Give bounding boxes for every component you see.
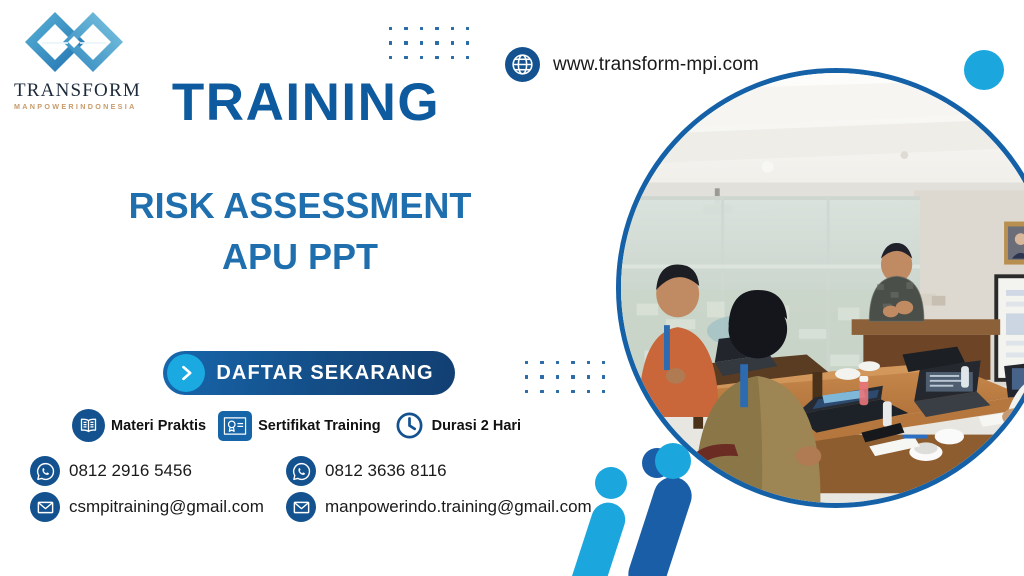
feature-item-materi-praktis: Materi Praktis <box>72 409 206 442</box>
phone-number: 0812 2916 5456 <box>69 461 192 481</box>
feature-label: Durasi 2 Hari <box>432 418 521 434</box>
title-line-2: APU PPT <box>0 231 600 282</box>
feature-item-durasi: Durasi 2 Hari <box>393 409 521 442</box>
feature-label: Materi Praktis <box>111 418 206 434</box>
page-title: RISK ASSESSMENT APU PPT <box>0 180 600 282</box>
contact-block: 0812 2916 5456 0812 3636 8116 <box>30 456 592 522</box>
cyan-circle-bottom-left <box>655 443 691 479</box>
clock-icon <box>393 409 426 442</box>
contact-phone-1[interactable]: 0812 2916 5456 <box>30 456 286 486</box>
register-now-label: DAFTAR SEKARANG <box>205 362 455 385</box>
website-url: www.transform-mpi.com <box>553 54 759 76</box>
envelope-icon <box>286 492 316 522</box>
whatsapp-phone-icon <box>30 456 60 486</box>
dot-grid-top <box>389 27 469 59</box>
register-now-button[interactable]: DAFTAR SEKARANG <box>163 351 455 395</box>
email-row: csmpitraining@gmail.com manpowerindo.tra… <box>30 492 592 522</box>
phone-number: 0812 3636 8116 <box>325 461 447 481</box>
email-address: csmpitraining@gmail.com <box>69 497 264 517</box>
feature-item-sertifikat-training: Sertifikat Training <box>218 411 380 441</box>
transform-diamond-logo-icon <box>22 8 126 80</box>
promo-banner: TRANSFORM MANPOWERINDONESIA www.transfor… <box>0 0 1024 576</box>
phone-row: 0812 2916 5456 0812 3636 8116 <box>30 456 592 486</box>
globe-icon <box>505 47 540 82</box>
chevron-right-icon <box>167 354 205 392</box>
title-line-1: RISK ASSESSMENT <box>0 180 600 231</box>
feature-label: Sertifikat Training <box>258 418 380 434</box>
contact-email-1[interactable]: csmpitraining@gmail.com <box>30 492 286 522</box>
contact-phone-2[interactable]: 0812 3636 8116 <box>286 456 447 486</box>
whatsapp-phone-icon <box>286 456 316 486</box>
feature-list: Materi Praktis Sertifikat Training <box>72 409 521 442</box>
ribbon-decoration <box>545 435 745 576</box>
open-book-icon <box>72 409 105 442</box>
certificate-icon <box>218 411 252 441</box>
dot-grid-middle <box>525 361 605 393</box>
website-link[interactable]: www.transform-mpi.com <box>505 47 759 82</box>
envelope-icon <box>30 492 60 522</box>
